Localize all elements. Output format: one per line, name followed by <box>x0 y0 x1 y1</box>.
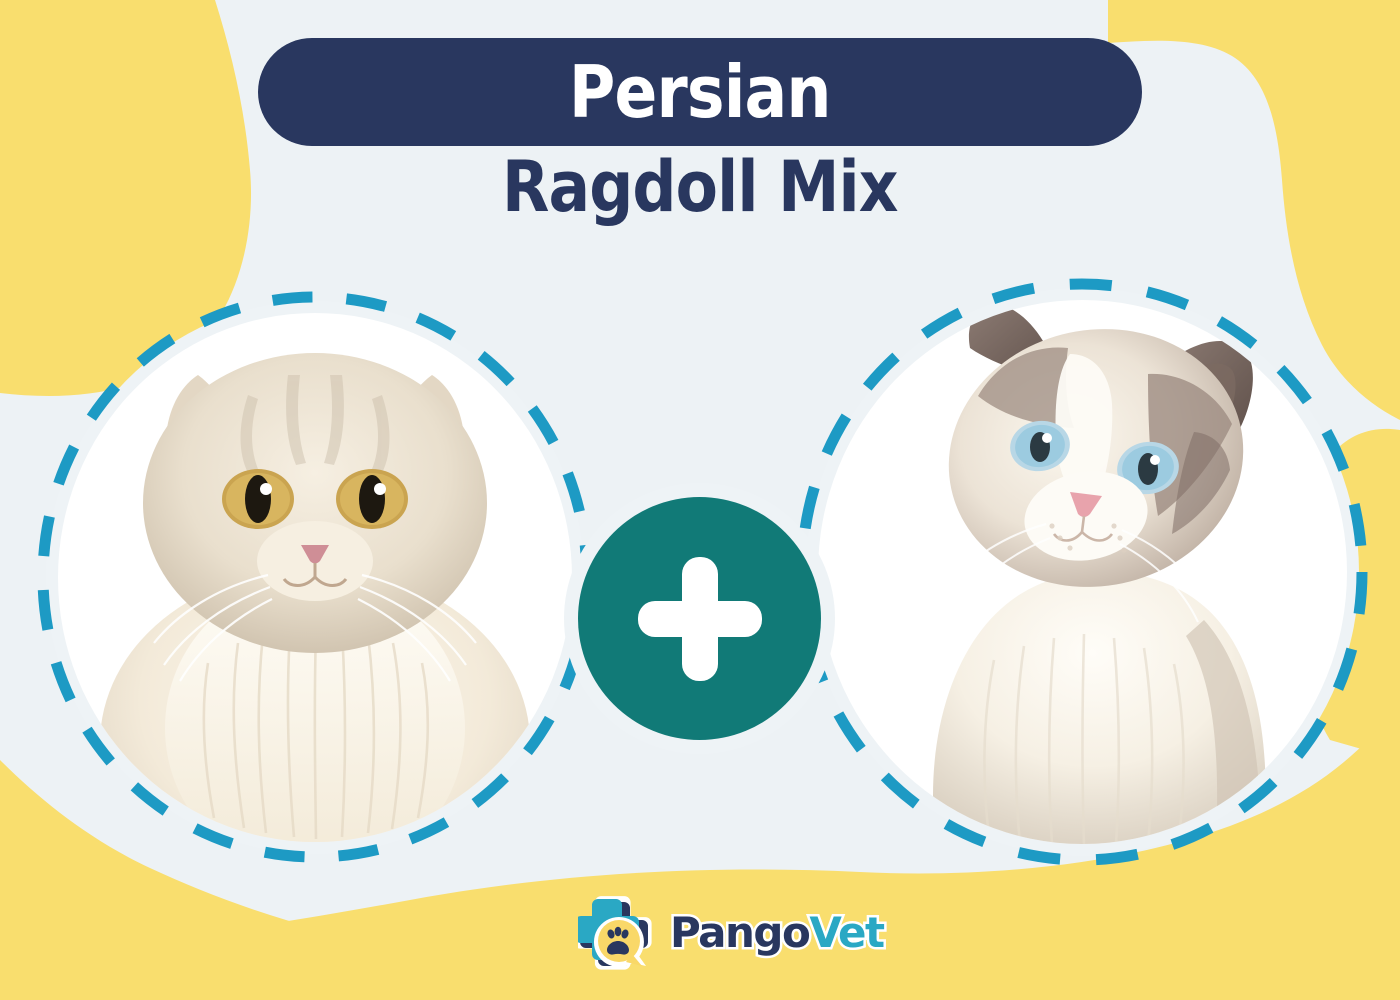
ragdoll-card <box>790 272 1375 872</box>
plus-badge <box>578 497 821 740</box>
pangovet-wordmark: PangoVet <box>670 912 884 954</box>
persian-dashed-ring <box>30 285 600 870</box>
pangovet-logo-mark <box>578 896 656 970</box>
title-pill: Persian <box>258 38 1142 146</box>
page-title: Persian <box>569 56 831 128</box>
logo-text-pango: Pango <box>670 908 809 957</box>
plus-icon-vertical <box>682 557 718 681</box>
subtitle-wrap: Ragdoll Mix <box>0 152 1400 222</box>
speech-bubble <box>598 920 640 962</box>
persian-card <box>30 285 600 870</box>
poster-canvas: Persian Ragdoll Mix <box>0 0 1400 1000</box>
medical-cross-paw-icon <box>578 896 656 970</box>
logo-text-vet: Vet <box>809 908 883 957</box>
page-subtitle: Ragdoll Mix <box>502 152 898 222</box>
pangovet-logo[interactable]: PangoVet <box>578 896 884 970</box>
ragdoll-dashed-ring <box>790 272 1375 872</box>
